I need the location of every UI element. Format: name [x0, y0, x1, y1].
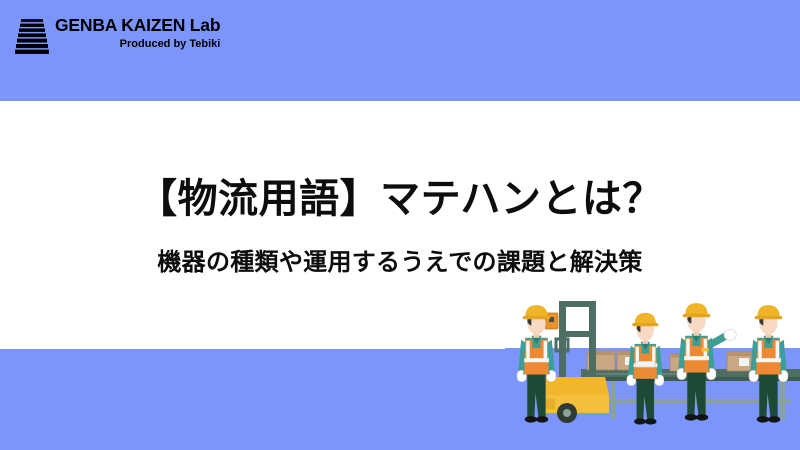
page-title: 【物流用語】マテハンとは？ [0, 176, 800, 222]
brand-logo-text: GENBA KAIZEN Lab Produced by Tebiki [55, 17, 220, 50]
slide-canvas: GENBA KAIZEN Lab Produced by Tebiki 【物流用… [0, 0, 800, 450]
headline-container: 【物流用語】マテハンとは？ [0, 176, 800, 222]
brand-tagline: Produced by Tebiki [120, 39, 221, 50]
brand-logo: GENBA KAIZEN Lab Produced by Tebiki [14, 17, 220, 55]
subheadline-container: 機器の種類や運用するうえでの課題と解決策 [0, 249, 800, 278]
brand-name: GENBA KAIZEN Lab [55, 17, 220, 35]
stacked-pyramid-logo-icon [14, 17, 50, 55]
warehouse-illustration [505, 295, 800, 435]
page-subtitle: 機器の種類や運用するうえでの課題と解決策 [0, 249, 800, 278]
